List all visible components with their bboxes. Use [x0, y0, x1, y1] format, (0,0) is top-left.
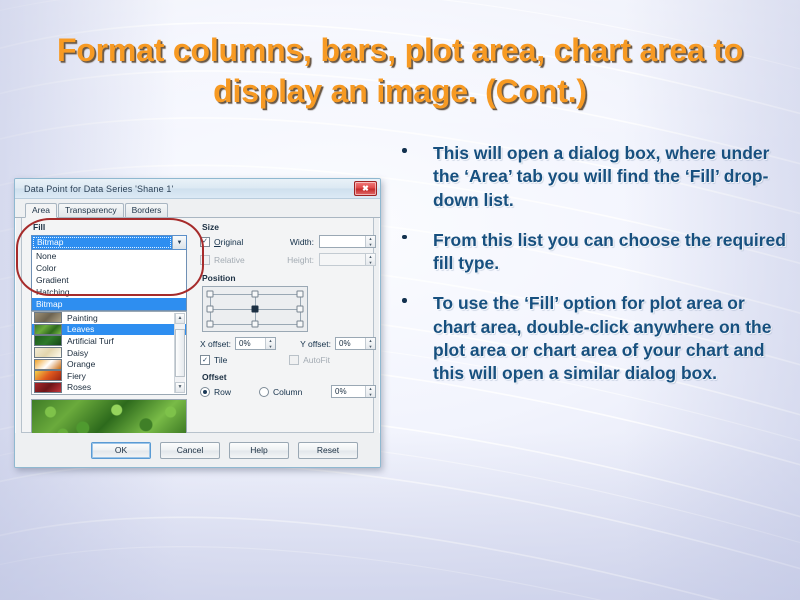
offset-group-label: Offset: [202, 372, 376, 382]
x-offset-value: 0%: [239, 339, 251, 348]
list-item[interactable]: Painting: [32, 312, 186, 324]
bullet-text: From this list you can choose the requir…: [433, 230, 786, 273]
dropdown-option-none[interactable]: None: [32, 250, 186, 262]
bullet-dot-icon: [402, 148, 407, 153]
relative-checkbox[interactable]: [200, 255, 210, 265]
dropdown-option-hatching[interactable]: Hatching: [32, 286, 186, 298]
scrollbar-thumb[interactable]: [175, 329, 185, 377]
anchor-bottom-center[interactable]: [252, 321, 259, 328]
bullet-text: This will open a dialog box, where under…: [433, 143, 769, 210]
autofit-label: AutoFit: [303, 355, 330, 365]
list-item[interactable]: Roses: [32, 382, 186, 394]
tab-transparency[interactable]: Transparency: [58, 203, 124, 218]
help-button[interactable]: Help: [229, 442, 289, 459]
bitmap-label: Roses: [67, 382, 91, 392]
fill-group: Fill Bitmap ▼ None Color Gradient Hatchi…: [31, 221, 187, 441]
list-item[interactable]: Fiery: [32, 370, 186, 382]
list-item[interactable]: Orange: [32, 358, 186, 370]
original-checkbox[interactable]: ✓: [200, 237, 210, 247]
anchor-bottom-left[interactable]: [207, 321, 214, 328]
bitmap-swatch: [34, 347, 62, 358]
size-relative-row: Relative Height: ▲▼: [200, 253, 376, 266]
list-item: This will open a dialog box, where under…: [396, 142, 788, 212]
dialog-footer: OK Cancel Help Reset: [15, 433, 380, 467]
width-field[interactable]: ▲▼: [319, 235, 376, 248]
offsets-row: X offset: 0% ▲▼ Y offset: 0% ▲▼: [200, 337, 376, 350]
position-group-label: Position: [202, 273, 376, 283]
dropdown-option-color[interactable]: Color: [32, 262, 186, 274]
anchor-center[interactable]: [252, 306, 259, 313]
offset-value: 0%: [335, 387, 347, 396]
tile-autofit-row: ✓ Tile AutoFit: [200, 355, 376, 365]
cancel-button[interactable]: Cancel: [160, 442, 220, 459]
dialog-body: Fill Bitmap ▼ None Color Gradient Hatchi…: [21, 217, 374, 433]
tile-checkbox[interactable]: ✓: [200, 355, 210, 365]
dialog-titlebar[interactable]: Data Point for Data Series 'Shane 1' ✖: [15, 179, 380, 199]
bitmap-picker: Painting Leaves Artificial Turf Dai: [31, 311, 187, 441]
bitmap-list-scrollbar[interactable]: ▲ ▼: [174, 313, 185, 393]
x-offset-field[interactable]: 0% ▲▼: [235, 337, 276, 350]
bitmap-swatch: [34, 359, 62, 370]
tab-area[interactable]: Area: [25, 203, 57, 219]
close-icon[interactable]: ✖: [354, 181, 377, 196]
tab-bar: Area Transparency Borders: [15, 199, 380, 218]
chevron-down-icon[interactable]: ▼: [172, 236, 186, 249]
tile-label: Tile: [214, 355, 227, 365]
size-group-label: Size: [202, 222, 376, 232]
dropdown-option-gradient[interactable]: Gradient: [32, 274, 186, 286]
anchor-bottom-right[interactable]: [297, 321, 304, 328]
reset-button[interactable]: Reset: [298, 442, 358, 459]
bitmap-swatch: [34, 312, 62, 323]
area-format-dialog: Data Point for Data Series 'Shane 1' ✖ A…: [14, 178, 381, 468]
bitmap-swatch: [34, 382, 62, 393]
row-radio[interactable]: [200, 387, 210, 397]
bullet-dot-icon: [402, 298, 407, 303]
fill-type-combobox[interactable]: Bitmap ▼: [31, 235, 187, 250]
slide-canvas: Format columns, bars, plot area, chart a…: [0, 0, 800, 600]
anchor-middle-right[interactable]: [297, 306, 304, 313]
ok-button[interactable]: OK: [91, 442, 151, 459]
offset-stepper[interactable]: ▲▼: [365, 386, 375, 397]
fill-type-value: Bitmap: [33, 237, 171, 248]
original-label: Original: [214, 237, 243, 247]
x-offset-label: X offset:: [200, 339, 231, 349]
bitmap-label: Painting: [67, 313, 98, 323]
bitmap-label: Daisy: [67, 348, 88, 358]
offset-row-column-row: Row Column 0% ▲▼: [200, 385, 376, 398]
list-item[interactable]: Leaves: [32, 324, 186, 336]
autofit-checkbox[interactable]: [289, 355, 299, 365]
scroll-up-icon[interactable]: ▲: [175, 313, 185, 324]
dropdown-option-bitmap[interactable]: Bitmap: [32, 298, 186, 310]
bullet-list: This will open a dialog box, where under…: [396, 142, 788, 402]
position-anchor-grid[interactable]: [202, 286, 308, 332]
anchor-top-right[interactable]: [297, 291, 304, 298]
right-column: Size ✓ Original Width: ▲▼ Relative Heigh…: [200, 221, 376, 403]
scroll-down-icon[interactable]: ▼: [175, 382, 185, 393]
anchor-top-center[interactable]: [252, 291, 259, 298]
anchor-middle-left[interactable]: [207, 306, 214, 313]
y-offset-stepper[interactable]: ▲▼: [365, 338, 375, 349]
bitmap-label: Fiery: [67, 371, 86, 381]
offset-value-field[interactable]: 0% ▲▼: [331, 385, 376, 398]
width-label: Width:: [290, 237, 314, 247]
list-item: From this list you can choose the requir…: [396, 229, 788, 276]
width-stepper[interactable]: ▲▼: [365, 236, 375, 247]
bitmap-swatch: [34, 335, 62, 346]
bitmap-swatch: [34, 370, 62, 381]
list-item[interactable]: Artificial Turf: [32, 335, 186, 347]
x-offset-stepper[interactable]: ▲▼: [265, 338, 275, 349]
height-stepper[interactable]: ▲▼: [365, 254, 375, 265]
page-title: Format columns, bars, plot area, chart a…: [36, 30, 764, 111]
y-offset-field[interactable]: 0% ▲▼: [335, 337, 376, 350]
bitmap-label: Leaves: [67, 324, 94, 334]
fill-type-dropdown-list[interactable]: None Color Gradient Hatching Bitmap: [31, 250, 187, 311]
bitmap-label: Orange: [67, 359, 95, 369]
relative-label: Relative: [214, 255, 245, 265]
size-original-row: ✓ Original Width: ▲▼: [200, 235, 376, 248]
column-radio[interactable]: [259, 387, 269, 397]
y-offset-value: 0%: [339, 339, 351, 348]
bitmap-label: Artificial Turf: [67, 336, 114, 346]
bitmap-swatch: [34, 324, 62, 335]
list-item[interactable]: Daisy: [32, 347, 186, 359]
dialog-title: Data Point for Data Series 'Shane 1': [24, 184, 354, 194]
tab-borders[interactable]: Borders: [125, 203, 169, 218]
height-field[interactable]: ▲▼: [319, 253, 376, 266]
row-label: Row: [214, 387, 231, 397]
anchor-top-left[interactable]: [207, 291, 214, 298]
list-item: To use the ‘Fill’ option for plot area o…: [396, 292, 788, 385]
column-label: Column: [273, 387, 302, 397]
y-offset-label: Y offset:: [300, 339, 331, 349]
bullet-dot-icon: [402, 235, 407, 240]
bitmap-list[interactable]: Painting Leaves Artificial Turf Dai: [31, 311, 187, 395]
height-label: Height:: [287, 255, 314, 265]
fill-group-label: Fill: [33, 222, 187, 232]
bullet-text: To use the ‘Fill’ option for plot area o…: [433, 293, 771, 383]
